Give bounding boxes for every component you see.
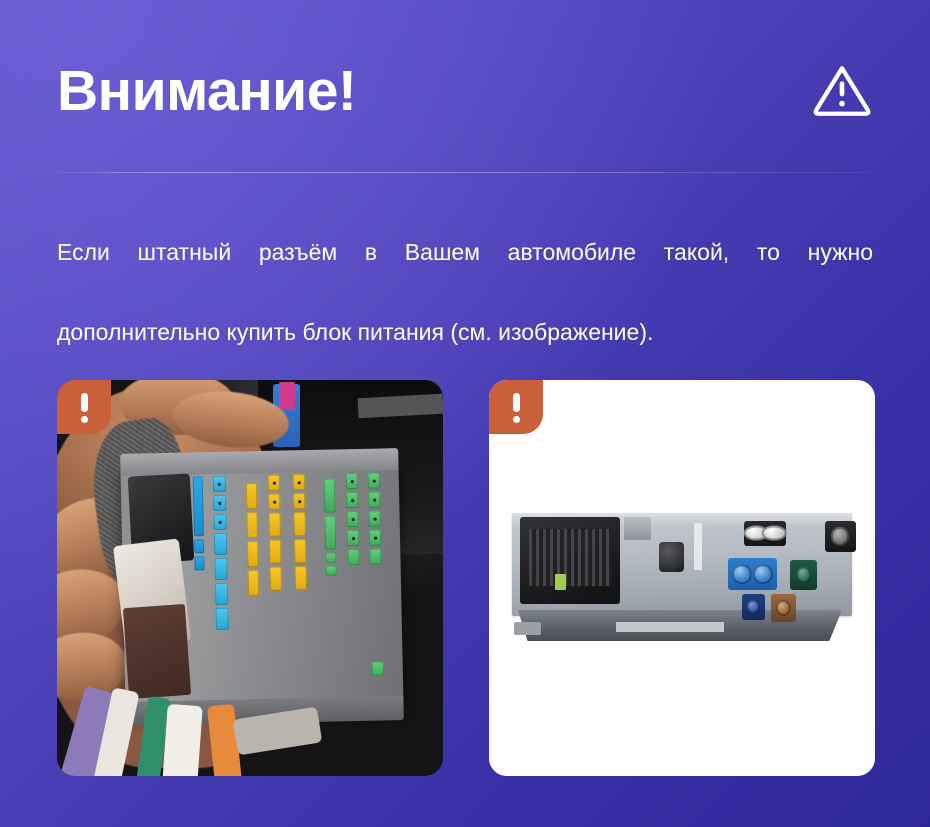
warning-notice-page: Внимание! Если штатный разъём в Вашем ав… [0,0,930,827]
page-title: Внимание! [57,63,356,120]
notice-text-line-1: Если штатный разъём в Вашем автомобиле т… [57,232,873,312]
page-header: Внимание! [57,52,873,130]
exclamation-mark-icon [489,380,543,434]
car-wiring-connector-photo [57,380,443,776]
card-connector[interactable] [57,380,443,776]
notice-text: Если штатный разъём в Вашем автомобиле т… [57,232,873,352]
power-supply-module-photo [489,380,875,776]
header-divider [57,172,873,173]
warning-triangle-icon [811,60,873,122]
notice-text-line-2: дополнительно купить блок питания (см. и… [57,312,873,352]
image-card-row [57,380,875,776]
exclamation-mark-icon [57,380,111,434]
card-power-supply[interactable] [489,380,875,776]
